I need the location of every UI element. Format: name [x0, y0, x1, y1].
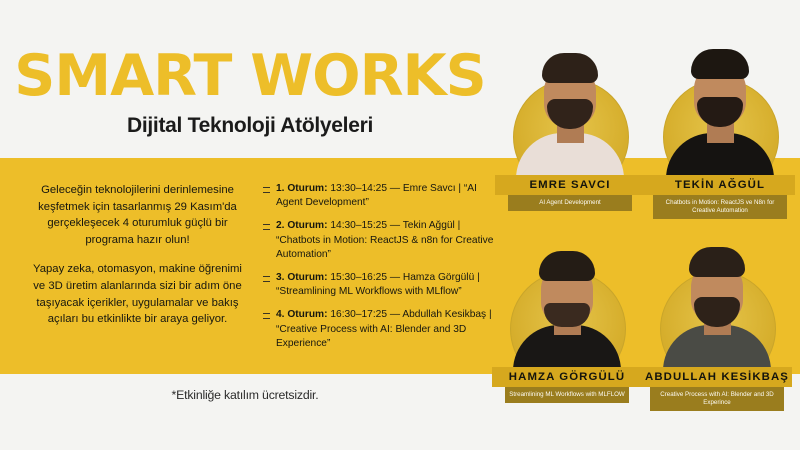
session-item: 1. Oturum: 13:30–14:25 — Emre Savcı | “A…: [263, 182, 495, 210]
speaker-card-abdullah-kesikbas: ABDULLAH KESİKBAŞ Creative Process with …: [642, 222, 792, 411]
poster-header: SMART WORKS Dijital Teknoloji Atölyeleri: [0, 46, 500, 138]
portrait-silhouette: [492, 222, 642, 387]
speaker-role: Chatbots in Motion: ReactJS ve N8n for C…: [653, 195, 787, 219]
speaker-name: TEKİN AĞGÜL: [645, 175, 795, 195]
event-poster: SMART WORKS Dijital Teknoloji Atölyeleri…: [0, 0, 800, 450]
description-block: Geleceğin teknolojilerini derinlemesine …: [30, 182, 245, 328]
portrait-silhouette: [495, 30, 645, 195]
page-title: SMART WORKS: [0, 46, 500, 106]
session-separator: —: [390, 272, 400, 283]
session-pipe: |: [477, 272, 480, 283]
session-separator: —: [390, 220, 400, 231]
beard-shape: [547, 99, 593, 129]
portrait-silhouette: [645, 30, 795, 195]
speaker-card-emre-savci: EMRE SAVCI AI Agent Development: [495, 30, 645, 211]
session-speaker: Tekin Ağgül: [403, 220, 455, 231]
session-list: 1. Oturum: 13:30–14:25 — Emre Savcı | “A…: [263, 182, 495, 351]
session-item: 2. Oturum: 14:30–15:25 — Tekin Ağgül | “…: [263, 219, 495, 262]
speaker-role: AI Agent Development: [508, 195, 632, 211]
session-topic: “Chatbots in Motion: ReactJS & n8n for C…: [276, 235, 493, 260]
beard-shape: [694, 297, 740, 327]
beard-shape: [544, 303, 590, 327]
speaker-card-tekin-aggul: TEKİN AĞGÜL Chatbots in Motion: ReactJS …: [645, 30, 795, 219]
session-separator: —: [390, 309, 400, 320]
hair-shape: [689, 247, 745, 277]
free-admission-note: *Etkinliğe katılım ücretsizdir.: [30, 388, 460, 402]
session-pipe: |: [458, 183, 461, 194]
session-label: 4. Oturum:: [276, 309, 328, 320]
list-bullet-icon: [263, 224, 270, 230]
beard-shape: [697, 97, 743, 127]
speaker-name: ABDULLAH KESİKBAŞ: [642, 367, 792, 387]
session-item: 3. Oturum: 15:30–16:25 — Hamza Görgülü |…: [263, 271, 495, 299]
speaker-photo: [495, 30, 645, 195]
session-separator: —: [390, 183, 400, 194]
session-speaker: Emre Savcı: [403, 183, 456, 194]
session-label: 1. Oturum:: [276, 183, 328, 194]
session-speaker: Abdullah Kesikbaş: [402, 309, 486, 320]
speaker-card-hamza-gorgulu: HAMZA GÖRGÜLÜ Streamlining ML Workflows …: [492, 222, 642, 403]
speaker-role: Streamlining ML Workflows with MLFLOW: [505, 387, 629, 403]
session-pipe: |: [458, 220, 461, 231]
hair-shape: [691, 49, 749, 79]
session-time: 16:30–17:25: [330, 309, 387, 320]
list-bullet-icon: [263, 313, 270, 319]
speaker-name: HAMZA GÖRGÜLÜ: [492, 367, 642, 387]
session-time: 13:30–14:25: [330, 183, 387, 194]
session-topic: “Creative Process with AI: Blender and 3…: [276, 324, 466, 349]
speaker-role: Creative Process with AI: Blender and 3D…: [650, 387, 784, 411]
session-topic: “Streamlining ML Workflows with MLflow”: [276, 286, 462, 297]
session-item: 4. Oturum: 16:30–17:25 — Abdullah Kesikb…: [263, 308, 495, 351]
session-speaker: Hamza Görgülü: [403, 272, 474, 283]
list-bullet-icon: [263, 187, 270, 193]
session-time: 15:30–16:25: [330, 272, 387, 283]
session-time: 14:30–15:25: [330, 220, 387, 231]
description-paragraph-1: Geleceğin teknolojilerini derinlemesine …: [30, 182, 245, 248]
speaker-photo: [492, 222, 642, 387]
speaker-photo: [642, 222, 792, 387]
session-label: 3. Oturum:: [276, 272, 328, 283]
speaker-photo: [645, 30, 795, 195]
portrait-silhouette: [642, 222, 792, 387]
list-bullet-icon: [263, 276, 270, 282]
speaker-name: EMRE SAVCI: [495, 175, 645, 195]
hair-shape: [539, 251, 595, 281]
description-paragraph-2: Yapay zeka, otomasyon, makine öğrenimi v…: [30, 261, 245, 327]
hair-shape: [542, 53, 598, 83]
session-label: 2. Oturum:: [276, 220, 328, 231]
page-subtitle: Dijital Teknoloji Atölyeleri: [0, 114, 500, 138]
